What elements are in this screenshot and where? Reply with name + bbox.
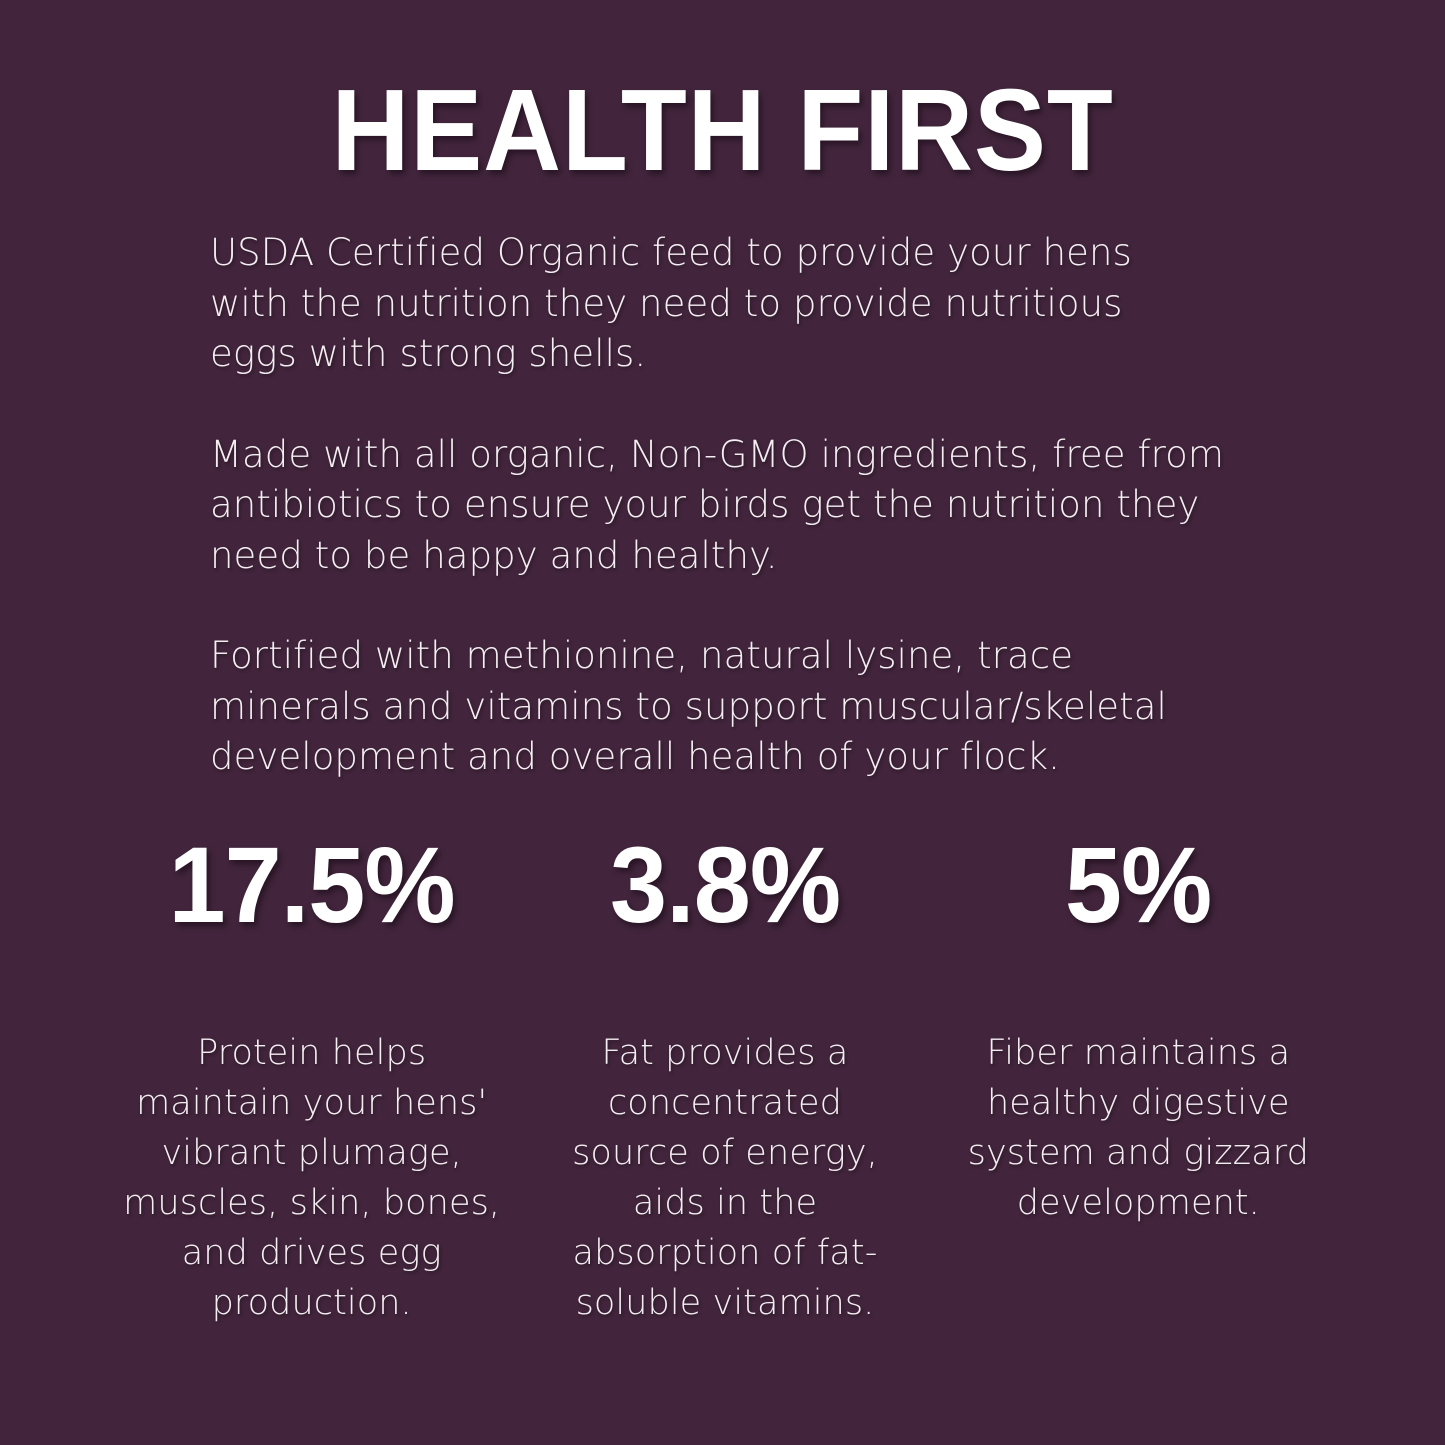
nutrition-stats-values-row: 17.5% 3.8% 5%: [105, 828, 1345, 941]
body-paragraph-1: USDA Certified Organic feed to provide y…: [210, 228, 1210, 380]
stat-description-column-protein: Protein helps maintain your hens' vibran…: [105, 1028, 518, 1328]
stat-description-protein: Protein helps maintain your hens' vibran…: [119, 1028, 504, 1328]
body-paragraph-3: Fortified with methionine, natural lysin…: [210, 631, 1245, 783]
stat-column-protein: 17.5%: [105, 828, 518, 941]
stat-value-fat: 3.8%: [610, 828, 840, 941]
stat-description-column-fat: Fat provides a concentrated source of en…: [518, 1028, 931, 1328]
page-title: HEALTH FIRST: [331, 72, 1113, 188]
stat-value-fiber: 5%: [1065, 828, 1211, 941]
body-paragraph-2: Made with all organic, Non-GMO ingredien…: [210, 430, 1265, 582]
health-first-poster: HEALTH FIRST USDA Certified Organic feed…: [0, 0, 1445, 1445]
body-copy-block: USDA Certified Organic feed to provide y…: [210, 228, 1280, 783]
stat-column-fiber: 5%: [932, 828, 1345, 941]
nutrition-stats-descriptions-row: Protein helps maintain your hens' vibran…: [105, 1028, 1345, 1328]
stat-description-fiber: Fiber maintains a healthy digestive syst…: [946, 1028, 1331, 1228]
stat-description-column-fiber: Fiber maintains a healthy digestive syst…: [932, 1028, 1345, 1228]
stat-column-fat: 3.8%: [518, 828, 931, 941]
page-title-container: HEALTH FIRST: [0, 72, 1445, 188]
stat-value-protein: 17.5%: [169, 828, 455, 941]
stat-description-fat: Fat provides a concentrated source of en…: [532, 1028, 917, 1328]
